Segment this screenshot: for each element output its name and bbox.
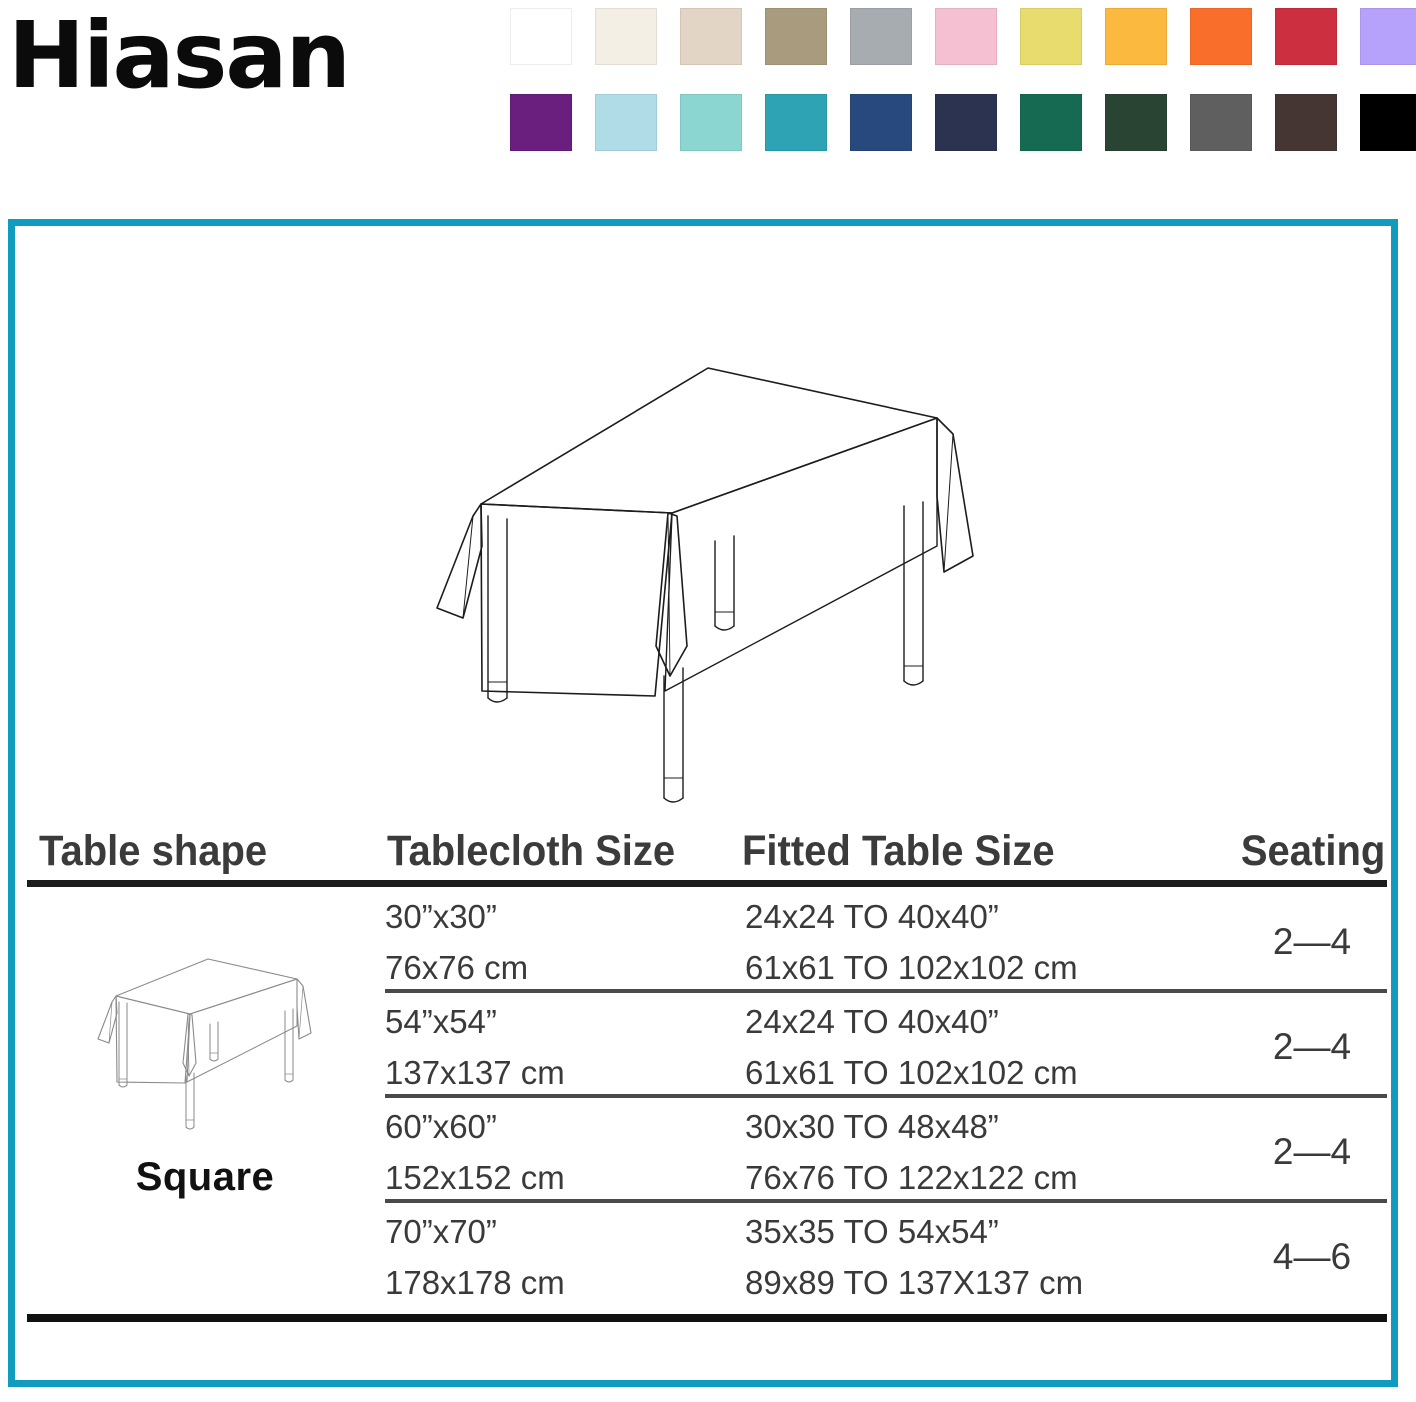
cell-cloth-inches: 54”x54” bbox=[385, 1003, 497, 1041]
swatch-purple[interactable] bbox=[510, 94, 572, 151]
cell-cloth-cm: 178x178 cm bbox=[385, 1264, 565, 1302]
table-shape-label: Square bbox=[55, 1155, 355, 1200]
cell-cloth-cm: 152x152 cm bbox=[385, 1159, 565, 1197]
cell-fitted-cm: 76x76 TO 122x122 cm bbox=[745, 1159, 1078, 1197]
cell-seating: 2—4 bbox=[1237, 921, 1387, 963]
square-table-illustration-icon bbox=[425, 346, 985, 806]
brand-logo: Hiasan bbox=[8, 10, 349, 102]
cell-cloth-inches: 30”x30” bbox=[385, 898, 497, 936]
cell-fitted-cm: 61x61 TO 102x102 cm bbox=[745, 1054, 1078, 1092]
cell-fitted-inches: 35x35 TO 54x54” bbox=[745, 1213, 999, 1251]
swatch-lavender[interactable] bbox=[1360, 8, 1416, 65]
cell-cloth-inches: 70”x70” bbox=[385, 1213, 497, 1251]
swatch-beige[interactable] bbox=[680, 8, 742, 65]
swatch-charcoal-grey[interactable] bbox=[1190, 94, 1252, 151]
swatch-grey[interactable] bbox=[850, 8, 912, 65]
table-row: 70”x70” 178x178 cm 35x35 TO 54x54” 89x89… bbox=[27, 1202, 1387, 1307]
table-bottom-divider bbox=[27, 1314, 1387, 1322]
cell-fitted-cm: 89x89 TO 137X137 cm bbox=[745, 1264, 1083, 1302]
swatch-black[interactable] bbox=[1360, 94, 1416, 151]
swatch-pink[interactable] bbox=[935, 8, 997, 65]
cell-seating: 2—4 bbox=[1237, 1026, 1387, 1068]
swatch-ivory[interactable] bbox=[595, 8, 657, 65]
swatch-teal[interactable] bbox=[765, 94, 827, 151]
swatch-row-2 bbox=[510, 94, 1410, 151]
swatch-red[interactable] bbox=[1275, 8, 1337, 65]
table-shape-cell: Square bbox=[55, 951, 355, 1200]
swatch-navy[interactable] bbox=[935, 94, 997, 151]
swatch-dark-green[interactable] bbox=[1105, 94, 1167, 151]
swatch-orange[interactable] bbox=[1190, 8, 1252, 65]
content-frame: Table shape Tablecloth Size Fitted Table… bbox=[8, 219, 1398, 1387]
color-swatch-grid bbox=[510, 8, 1410, 180]
swatch-gold[interactable] bbox=[1105, 8, 1167, 65]
cell-fitted-inches: 24x24 TO 40x40” bbox=[745, 898, 999, 936]
cell-cloth-inches: 60”x60” bbox=[385, 1108, 497, 1146]
header-band: Hiasan bbox=[0, 0, 1416, 200]
swatch-dark-brown[interactable] bbox=[1275, 94, 1337, 151]
column-header-seating: Seating bbox=[1241, 830, 1385, 873]
header-divider bbox=[27, 880, 1387, 887]
square-table-shape-icon bbox=[90, 951, 320, 1141]
swatch-white[interactable] bbox=[510, 8, 572, 65]
cell-cloth-cm: 76x76 cm bbox=[385, 949, 528, 987]
column-header-table-shape: Table shape bbox=[39, 830, 267, 873]
cell-seating: 4—6 bbox=[1237, 1236, 1387, 1278]
cell-cloth-cm: 137x137 cm bbox=[385, 1054, 565, 1092]
cell-fitted-inches: 24x24 TO 40x40” bbox=[745, 1003, 999, 1041]
swatch-denim-blue[interactable] bbox=[850, 94, 912, 151]
swatch-light-blue[interactable] bbox=[595, 94, 657, 151]
column-header-tablecloth-size: Tablecloth Size bbox=[387, 830, 675, 873]
cell-fitted-inches: 30x30 TO 48x48” bbox=[745, 1108, 999, 1146]
table-header-row: Table shape Tablecloth Size Fitted Table… bbox=[27, 811, 1387, 873]
swatch-row-1 bbox=[510, 8, 1410, 65]
swatch-emerald[interactable] bbox=[1020, 94, 1082, 151]
column-header-fitted-table-size: Fitted Table Size bbox=[742, 830, 1055, 873]
swatch-taupe[interactable] bbox=[765, 8, 827, 65]
swatch-yellow[interactable] bbox=[1020, 8, 1082, 65]
cell-fitted-cm: 61x61 TO 102x102 cm bbox=[745, 949, 1078, 987]
cell-seating: 2—4 bbox=[1237, 1131, 1387, 1173]
swatch-aqua[interactable] bbox=[680, 94, 742, 151]
